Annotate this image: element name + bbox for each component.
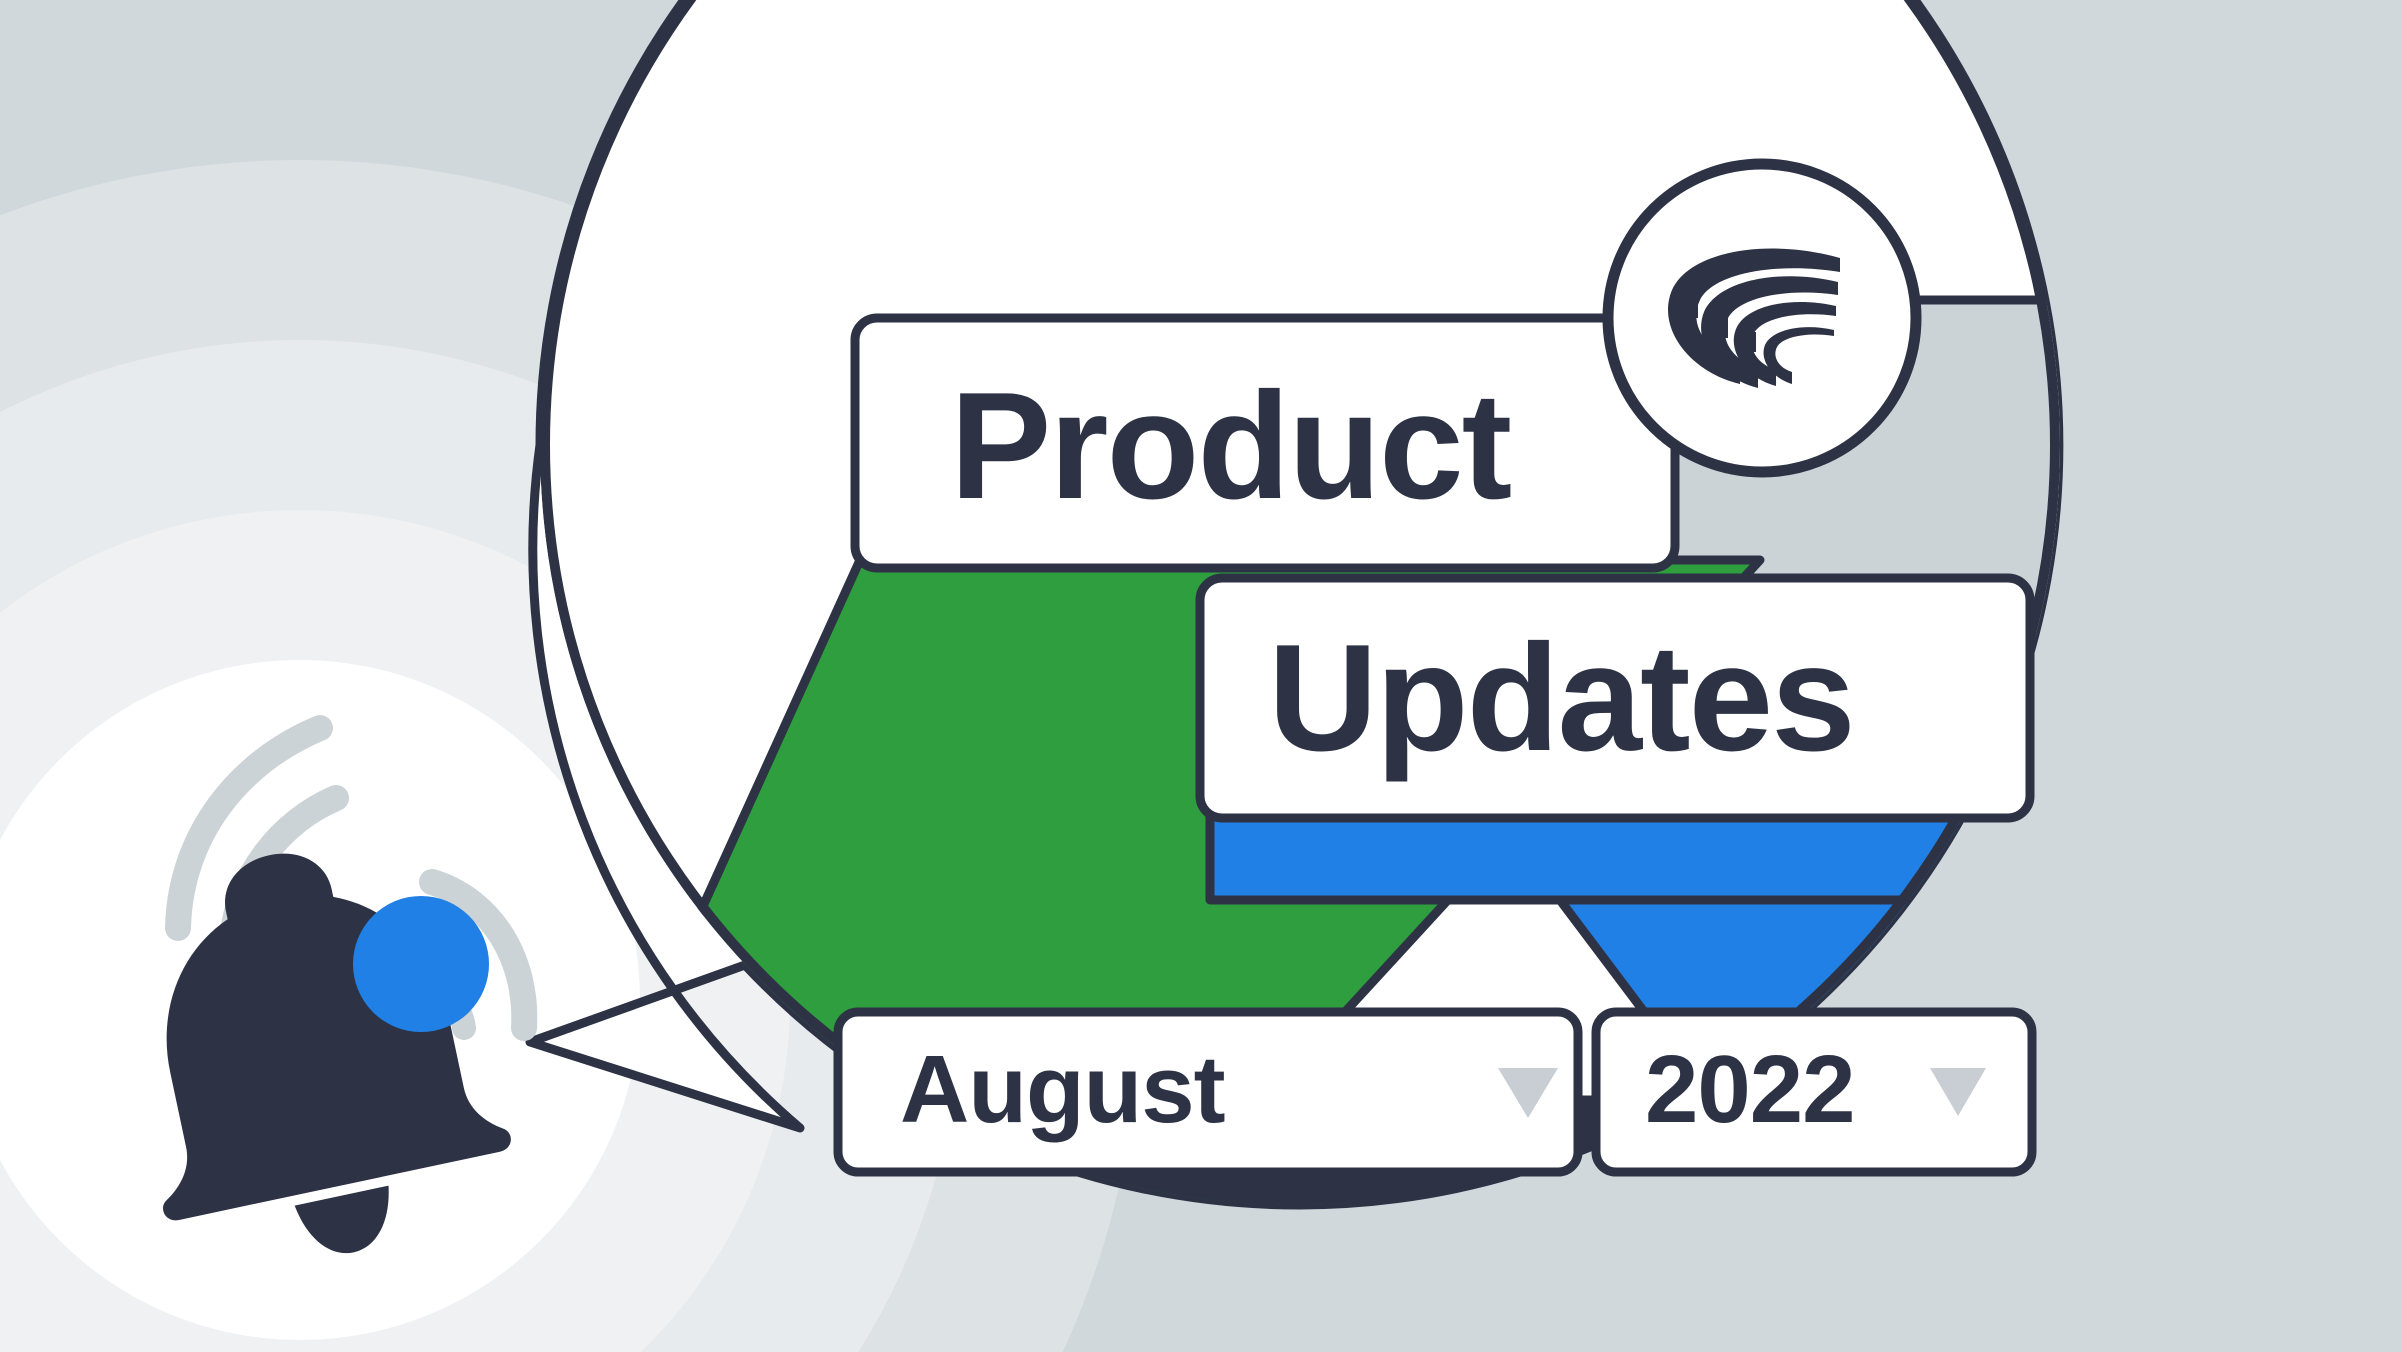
title-updates-label: Updates [1268,613,1854,783]
title-pill-product: Product [855,318,1675,568]
mark-bar-2 [1704,314,1728,338]
year-select[interactable]: 2022 [1596,1012,2032,1172]
mark-bar-1 [1672,292,1698,318]
year-select-value: 2022 [1645,1036,1855,1143]
month-select[interactable]: August [838,1012,1578,1172]
banner-canvas: Product Updates August [0,0,2402,1352]
product-updates-banner: Product Updates August [0,0,2402,1352]
mark-bar-3 [1736,332,1756,352]
brand-logo-badge [1608,164,1916,472]
title-product-label: Product [950,361,1511,531]
bell-notification-badge [353,896,489,1032]
month-select-value: August [900,1036,1225,1143]
title-pill-updates: Updates [1200,578,2030,818]
